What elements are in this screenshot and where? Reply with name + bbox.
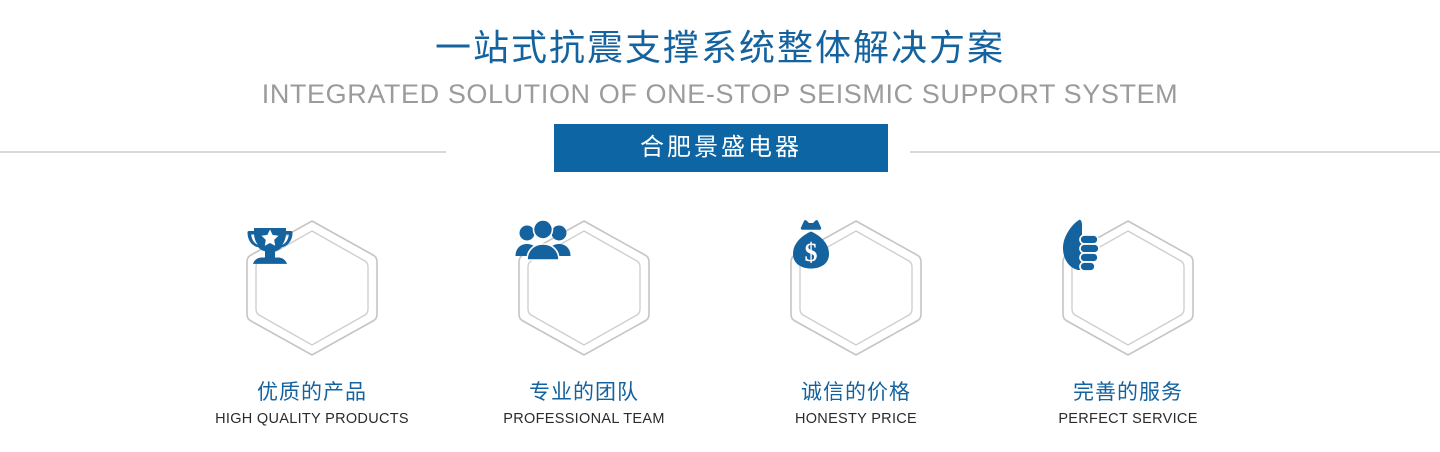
promo-banner: 一站式抗震支撑系统整体解决方案 INTEGRATED SOLUTION OF O… [0, 0, 1440, 452]
feature-label-cn: 优质的产品 [176, 380, 448, 406]
feature-item-team: 专业的团队 PROFESSIONAL TEAM [448, 218, 720, 430]
feature-label-en: HONESTY PRICE [720, 408, 992, 430]
divider-left [0, 151, 446, 153]
feature-label-cn: 专业的团队 [448, 380, 720, 406]
feature-item-quality: 优质的产品 HIGH QUALITY PRODUCTS [176, 218, 448, 430]
svg-text:$: $ [805, 238, 818, 267]
feature-label-en: PROFESSIONAL TEAM [448, 408, 720, 430]
feature-label-en: PERFECT SERVICE [992, 408, 1264, 430]
thumbs-up-icon [1058, 218, 1198, 358]
feature-item-service: 完善的服务 PERFECT SERVICE [992, 218, 1264, 430]
hexagon-frame: $ [786, 218, 926, 358]
page-title: 一站式抗震支撑系统整体解决方案 [0, 26, 1440, 70]
hexagon-frame [242, 218, 382, 358]
money-bag-icon: $ [786, 218, 926, 358]
feature-label-en: HIGH QUALITY PRODUCTS [176, 408, 448, 430]
team-icon [514, 218, 654, 358]
badge-row: 合肥景盛电器 [0, 124, 1440, 180]
feature-label-cn: 诚信的价格 [720, 380, 992, 406]
company-badge: 合肥景盛电器 [554, 124, 888, 172]
page-subtitle: INTEGRATED SOLUTION OF ONE-STOP SEISMIC … [0, 74, 1440, 114]
heading-block: 一站式抗震支撑系统整体解决方案 INTEGRATED SOLUTION OF O… [0, 0, 1440, 114]
hexagon-frame [1058, 218, 1198, 358]
feature-item-price: $ 诚信的价格 HONESTY PRICE [720, 218, 992, 430]
divider-right [910, 151, 1440, 153]
feature-label-cn: 完善的服务 [992, 380, 1264, 406]
trophy-icon [242, 218, 382, 358]
feature-list: 优质的产品 HIGH QUALITY PRODUCTS [0, 218, 1440, 430]
hexagon-frame [514, 218, 654, 358]
